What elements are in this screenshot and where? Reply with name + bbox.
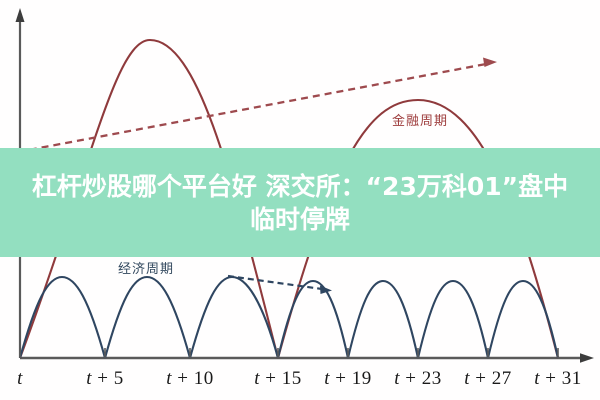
series-label-economic-cycle: 经济周期 xyxy=(118,258,174,277)
economic-trend-arrow-annotation xyxy=(228,276,332,294)
financial-trend-arrow-annotation xyxy=(18,58,497,153)
x-tick-label-t15: t + 15 xyxy=(254,368,302,390)
series-economic-cycle xyxy=(20,277,558,358)
x-tick-label-t: t xyxy=(17,368,23,390)
chart-screenshot: 经济周期 金融周期 t t + 5 t + 10 t + 15 t + 19 t… xyxy=(0,0,600,400)
x-tick-label-t19: t + 19 xyxy=(324,368,372,390)
x-tick-label-t31: t + 31 xyxy=(534,368,582,390)
x-tick-label-t23: t + 23 xyxy=(394,368,442,390)
headline-overlay-banner: 杠杆炒股哪个平台好 深交所：“23万科01”盘中临时停牌 xyxy=(0,148,600,257)
x-tick-label-t10: t + 10 xyxy=(166,368,214,390)
series-label-financial-cycle: 金融周期 xyxy=(392,110,448,129)
x-axis-ticks xyxy=(20,348,558,358)
x-tick-label-t5: t + 5 xyxy=(86,368,124,390)
x-tick-label-t27: t + 27 xyxy=(464,368,512,390)
headline-overlay-text: 杠杆炒股哪个平台好 深交所：“23万科01”盘中临时停牌 xyxy=(20,170,580,236)
